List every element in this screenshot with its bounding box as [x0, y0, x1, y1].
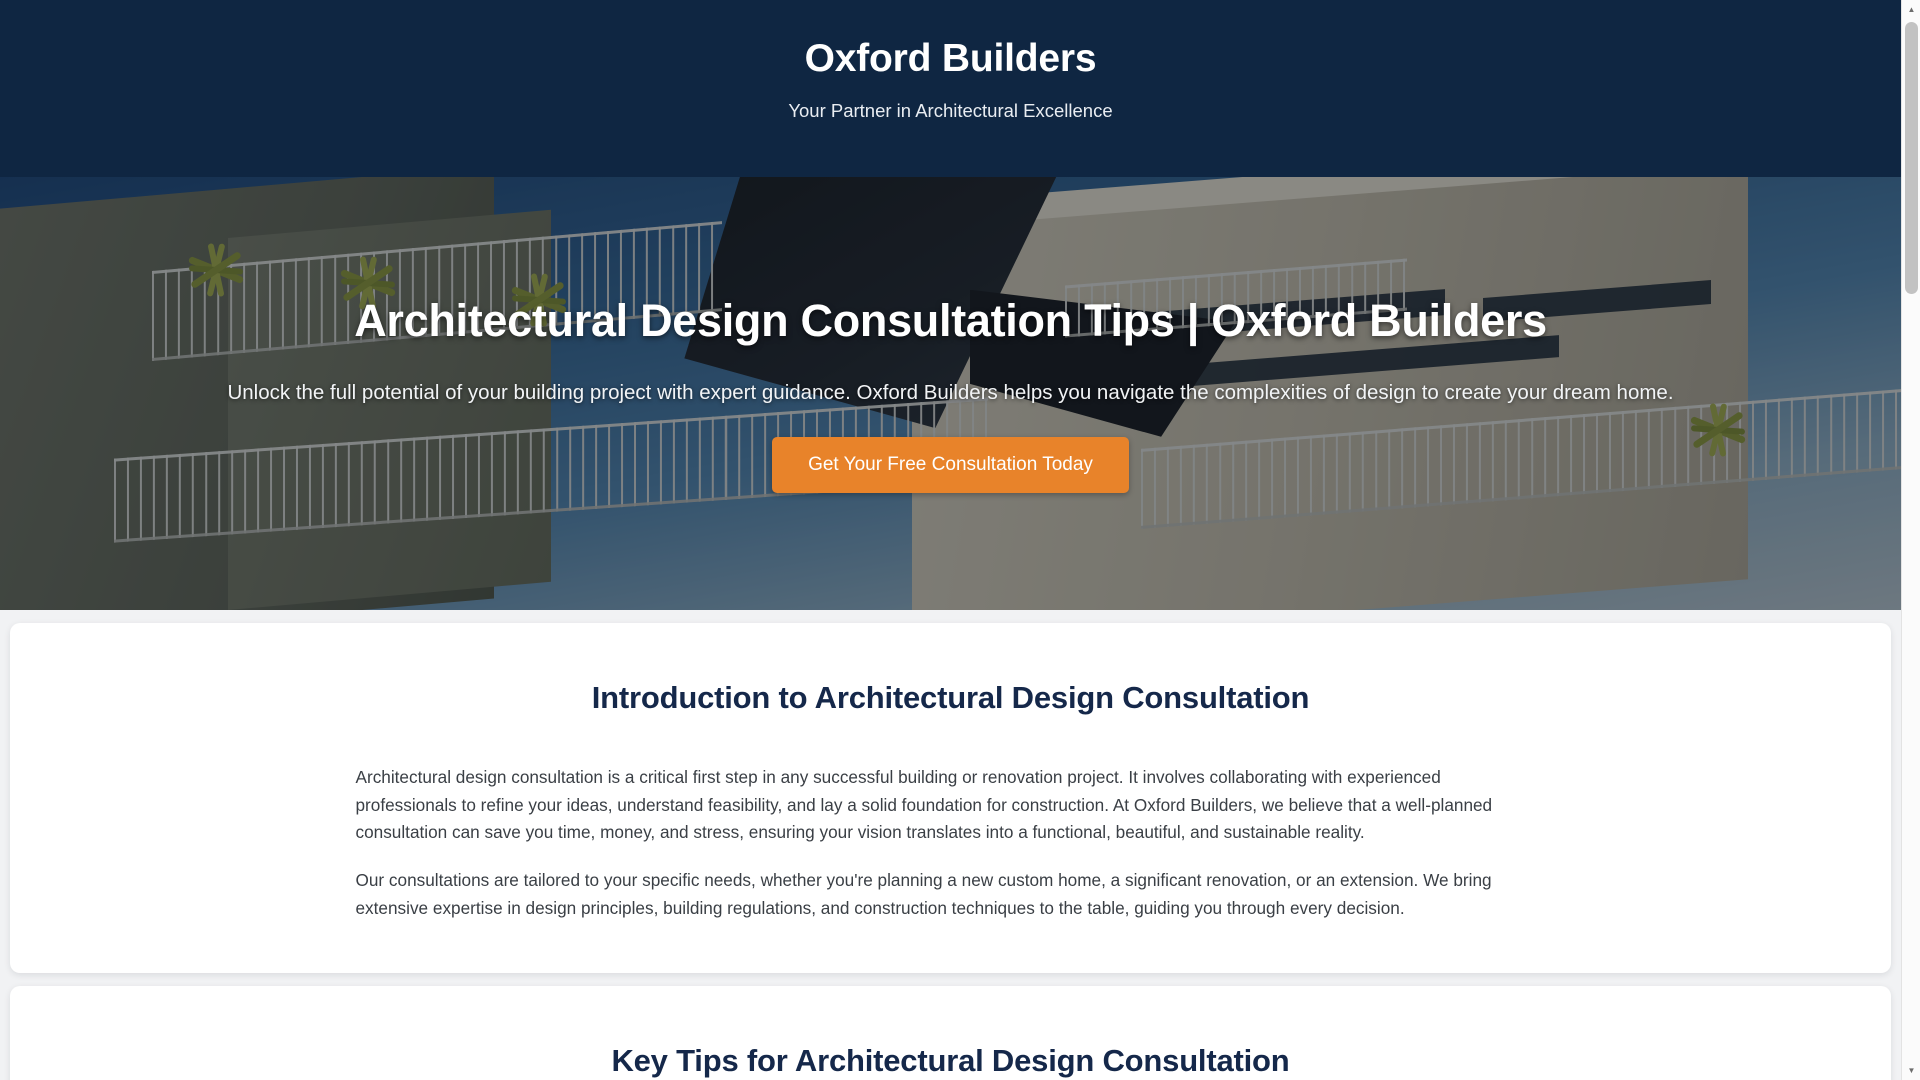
key-tips-section-heading: Key Tips for Architectural Design Consul…	[356, 1042, 1546, 1080]
site-header: Oxford Builders Your Partner in Architec…	[0, 0, 1901, 177]
intro-section-body: Architectural design consultation is a c…	[356, 764, 1546, 923]
hero-subtitle: Unlock the full potential of your buildi…	[80, 378, 1821, 408]
scroll-down-arrow-icon[interactable]: ▼	[1902, 1061, 1920, 1080]
intro-paragraph-1: Architectural design consultation is a c…	[356, 764, 1546, 848]
intro-section-inner: Introduction to Architectural Design Con…	[346, 679, 1556, 923]
hero-section: Architectural Design Consultation Tips |…	[0, 177, 1901, 610]
key-tips-section-card: Key Tips for Architectural Design Consul…	[10, 986, 1891, 1080]
hero-content: Architectural Design Consultation Tips |…	[0, 294, 1901, 494]
get-free-consultation-button[interactable]: Get Your Free Consultation Today	[772, 437, 1129, 493]
site-tagline: Your Partner in Architectural Excellence	[0, 100, 1901, 122]
scrollbar-thumb[interactable]	[1905, 22, 1918, 294]
hero-title: Architectural Design Consultation Tips |…	[80, 294, 1821, 348]
scroll-up-arrow-icon[interactable]: ▲	[1902, 0, 1920, 19]
key-tips-section-inner: Key Tips for Architectural Design Consul…	[346, 1042, 1556, 1080]
intro-paragraph-2: Our consultations are tailored to your s…	[356, 867, 1546, 923]
vertical-scrollbar[interactable]: ▲ ▼	[1901, 0, 1920, 1080]
intro-section-heading: Introduction to Architectural Design Con…	[356, 679, 1546, 718]
site-title: Oxford Builders	[0, 37, 1901, 82]
page-content: Oxford Builders Your Partner in Architec…	[0, 0, 1901, 1080]
intro-section-card: Introduction to Architectural Design Con…	[10, 623, 1891, 973]
browser-viewport: Oxford Builders Your Partner in Architec…	[0, 0, 1920, 1080]
main-content: Introduction to Architectural Design Con…	[0, 610, 1901, 1080]
